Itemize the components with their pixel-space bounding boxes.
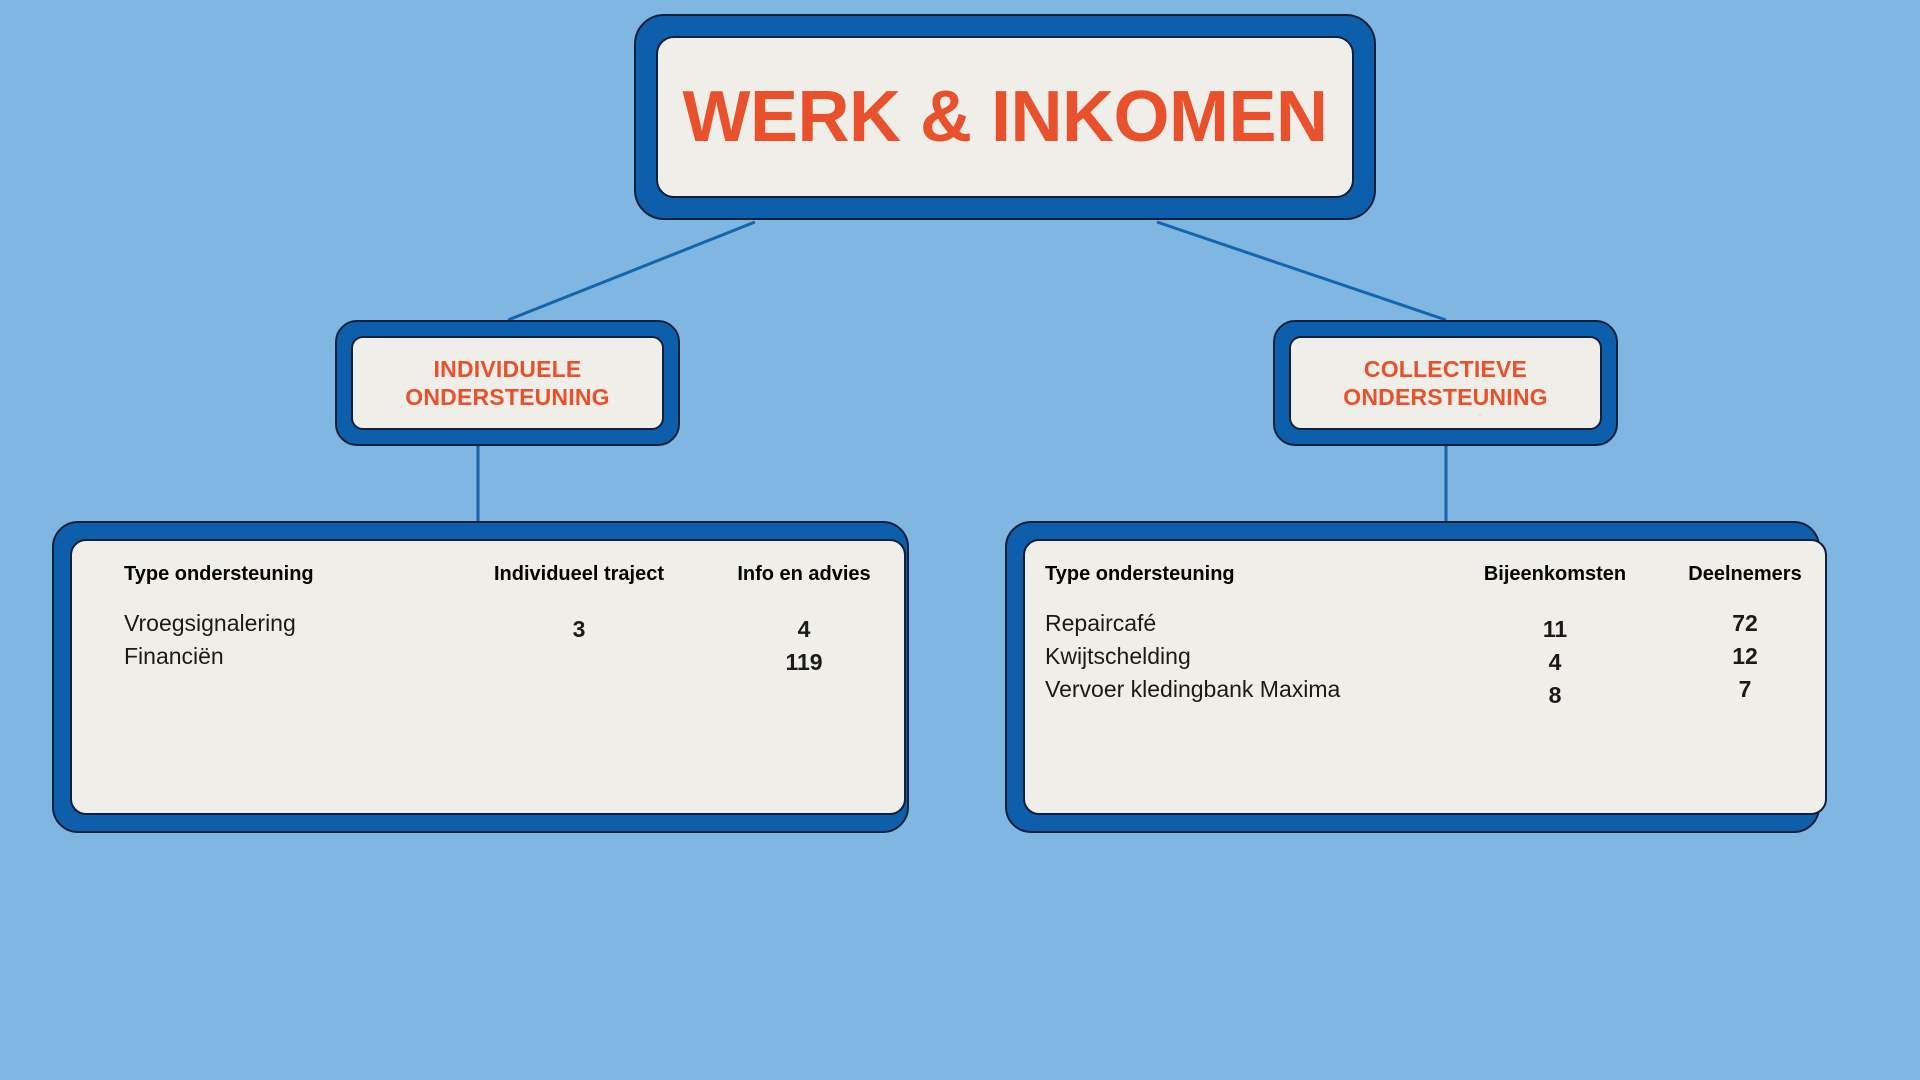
branch-node-individuele-ondersteuning[interactable]: INDIVIDUELE ONDERSTEUNING <box>335 320 680 446</box>
table-collectieve: Type ondersteuning Bijeenkomsten Deelnem… <box>1025 563 1825 709</box>
table-header-row: Type ondersteuning Individueel traject I… <box>72 563 904 610</box>
root-node-werk-en-inkomen[interactable]: WERK & INKOMEN <box>634 14 1376 220</box>
branch-label-collectieve-line1: COLLECTIEVE <box>1364 355 1527 383</box>
cell-info-en-advies: 119 <box>704 649 904 682</box>
column-header-deelnemers: Deelnemers <box>1665 563 1825 610</box>
table-row: Repaircafé 11 72 <box>1025 610 1825 643</box>
column-header-type-ondersteuning: Type ondersteuning <box>72 563 454 610</box>
branch-label-individuele-line2: ONDERSTEUNING <box>405 383 610 411</box>
table-row: Vervoer kledingbank Maxima 8 7 <box>1025 676 1825 709</box>
column-header-info-en-advies: Info en advies <box>704 563 904 610</box>
column-header-bijeenkomsten: Bijeenkomsten <box>1445 563 1665 610</box>
cell-individueel-traject <box>454 649 704 682</box>
cell-bijeenkomsten: 11 <box>1445 616 1665 649</box>
connector-root-to-individuele <box>508 222 755 320</box>
branch-node-panel-collectieve: COLLECTIEVE ONDERSTEUNING <box>1289 336 1602 430</box>
branch-label-collectieve-line2: ONDERSTEUNING <box>1343 383 1548 411</box>
table-row: Vroegsignalering 3 4 <box>72 610 904 643</box>
column-header-type-ondersteuning: Type ondersteuning <box>1025 563 1445 610</box>
cell-deelnemers: 72 <box>1665 610 1825 643</box>
table-card-panel-individuele: Type ondersteuning Individueel traject I… <box>70 539 906 815</box>
page-title: WERK & INKOMEN <box>683 81 1328 153</box>
cell-deelnemers: 7 <box>1665 676 1825 709</box>
cell-type-ondersteuning: Vroegsignalering <box>72 610 454 643</box>
cell-individueel-traject: 3 <box>454 616 704 649</box>
table-header-row: Type ondersteuning Bijeenkomsten Deelnem… <box>1025 563 1825 610</box>
branch-label-individuele-line1: INDIVIDUELE <box>434 355 582 383</box>
cell-type-ondersteuning: Repaircafé <box>1025 610 1445 643</box>
cell-type-ondersteuning: Vervoer kledingbank Maxima <box>1025 676 1445 709</box>
connector-root-to-collectieve <box>1157 222 1446 320</box>
cell-info-en-advies: 4 <box>704 616 904 649</box>
table-row: Kwijtschelding 4 12 <box>1025 643 1825 676</box>
column-header-individueel-traject: Individueel traject <box>454 563 704 610</box>
table-individuele: Type ondersteuning Individueel traject I… <box>72 563 904 676</box>
cell-type-ondersteuning: Kwijtschelding <box>1025 643 1445 676</box>
cell-bijeenkomsten: 4 <box>1445 649 1665 682</box>
table-card-collectieve: Type ondersteuning Bijeenkomsten Deelnem… <box>1005 521 1820 833</box>
branch-node-panel-individuele: INDIVIDUELE ONDERSTEUNING <box>351 336 664 430</box>
branch-node-collectieve-ondersteuning[interactable]: COLLECTIEVE ONDERSTEUNING <box>1273 320 1618 446</box>
diagram-canvas: WERK & INKOMEN INDIVIDUELE ONDERSTEUNING… <box>0 0 1920 1080</box>
table-card-individuele: Type ondersteuning Individueel traject I… <box>52 521 909 833</box>
root-node-panel: WERK & INKOMEN <box>656 36 1354 198</box>
table-card-panel-collectieve: Type ondersteuning Bijeenkomsten Deelnem… <box>1023 539 1827 815</box>
cell-bijeenkomsten: 8 <box>1445 682 1665 715</box>
cell-deelnemers: 12 <box>1665 643 1825 676</box>
cell-type-ondersteuning: Financiën <box>72 643 454 676</box>
